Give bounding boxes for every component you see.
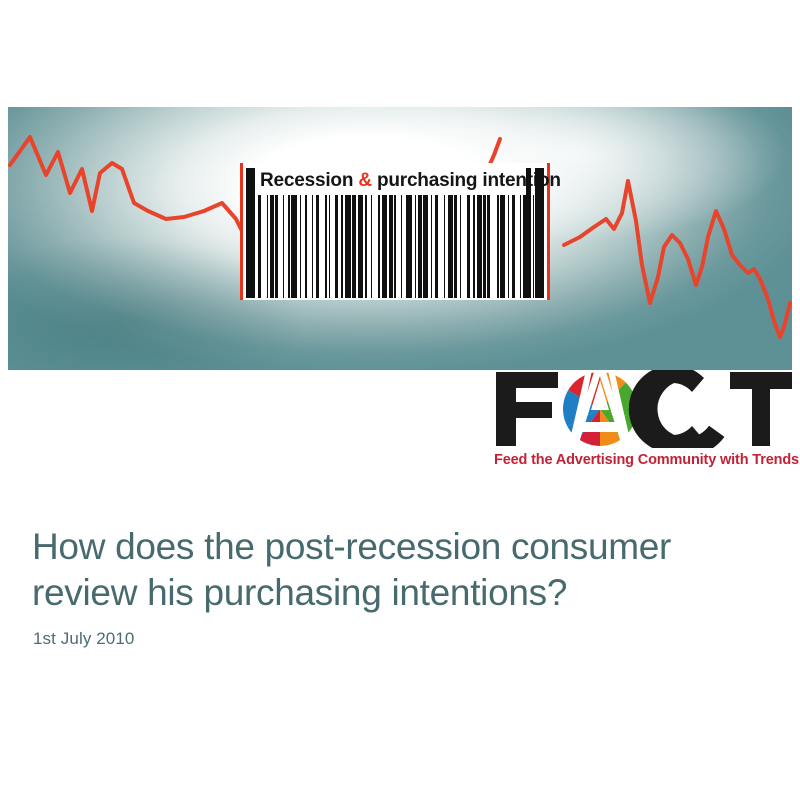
logo-letter-f	[496, 372, 558, 446]
logo-tagline: Feed the Advertising Community with Tren…	[494, 452, 792, 468]
fact-logo: Feed the Advertising Community with Tren…	[492, 370, 792, 478]
barcode-title-prefix: Recession	[260, 170, 358, 191]
fact-wordmark	[492, 370, 792, 448]
barcode-title-ampersand: &	[358, 170, 372, 191]
slide-title-line-2: review his purchasing intentions?	[32, 570, 752, 616]
logo-letter-t	[730, 372, 792, 446]
barcode-title-suffix: purchasing intention	[372, 170, 561, 191]
slide-title: How does the post-recession consumer rev…	[32, 524, 752, 616]
logo-letter-c	[629, 370, 739, 448]
barcode-title-text: Recession & purchasing intention	[260, 168, 528, 194]
slide-title-line-1: How does the post-recession consumer	[32, 524, 752, 570]
barcode-bar	[538, 195, 543, 298]
barcode-left-accent-rule	[240, 163, 243, 300]
barcode-graphic: Recession & purchasing intention	[240, 163, 550, 300]
barcode-bar-strip	[246, 195, 544, 298]
slide-date: 1st July 2010	[33, 629, 134, 649]
